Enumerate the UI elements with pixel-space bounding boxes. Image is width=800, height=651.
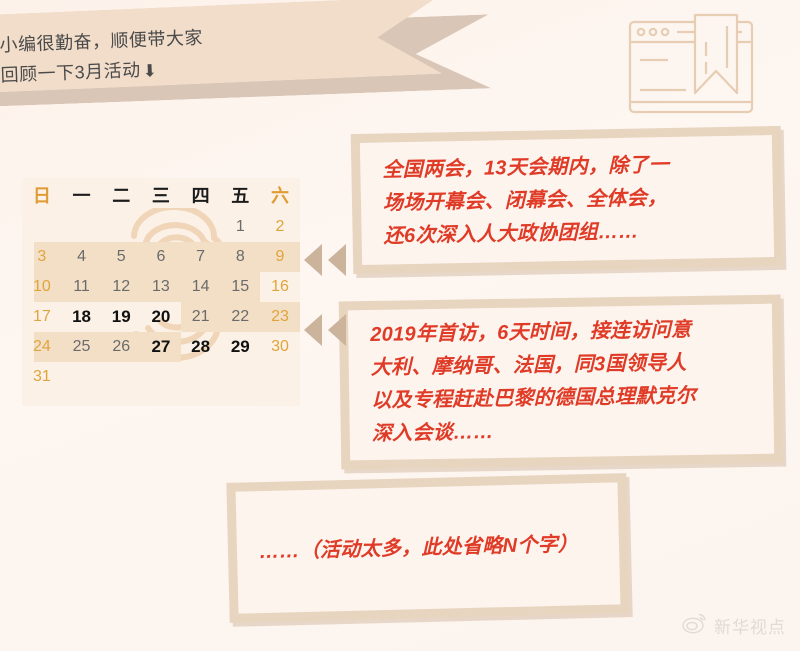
calendar-day-empty-thu [181,212,221,242]
calendar-day-empty-mon [62,212,102,242]
weekday-header-sun: 日 [22,178,62,212]
down-arrow-icon: ⬇ [142,56,158,87]
weekday-header-wed: 三 [141,178,181,212]
calendar-day-empty-thu [181,362,221,392]
calendar-week-row: 31 [22,362,300,392]
calendar-day-empty-wed [141,212,181,242]
callout-box-first-visit-2019: 2019年首访，6天时间，接连访问意大利、摩纳哥、法国，同3国领导人以及专程赶赴… [339,295,784,470]
calendar-day-25[interactable]: 25 [62,332,102,362]
calendar-day-28[interactable]: 28 [181,332,221,362]
calendar-day-empty-tue [101,362,141,392]
calendar-day-rows: 1234567891011121314151617181920212223242… [22,212,300,392]
callout-box-text: ……（活动太多，此处省略N个字） [236,482,621,613]
chevron-left-box2 [300,313,348,352]
callout-line-3: 还6次深入人大政协团组…… [383,213,752,253]
calendar-week-row: 12 [22,212,300,242]
callout-line-4: 深入会谈…… [372,412,752,451]
calendar-day-13[interactable]: 13 [141,272,181,302]
calendar-day-26[interactable]: 26 [101,332,141,362]
weekday-header-tue: 二 [101,178,141,212]
calendar-day-4[interactable]: 4 [62,242,102,272]
calendar-day-19[interactable]: 19 [101,302,141,332]
chevron-left-box1 [300,243,348,282]
calendar-day-31[interactable]: 31 [22,362,62,392]
calendar-week-row: 17181920212223 [22,302,300,332]
calendar-day-11[interactable]: 11 [62,272,102,302]
calendar-day-21[interactable]: 21 [181,302,221,332]
weekday-header-fri: 五 [220,178,260,212]
calendar-weekday-header-row: 日 一 二 三 四 五 六 [22,178,300,212]
calendar-day-empty-fri [220,362,260,392]
weibo-logo-icon [682,612,708,639]
calendar-week-row: 10111213141516 [22,272,300,302]
calendar-day-2[interactable]: 2 [260,212,300,242]
calendar-day-empty-mon [62,362,102,392]
calendar-day-20[interactable]: 20 [141,302,181,332]
calendar-day-empty-tue [101,212,141,242]
callout-box-omitted: ……（活动太多，此处省略N个字） [226,473,629,623]
calendar-day-8[interactable]: 8 [220,242,260,272]
calendar-day-5[interactable]: 5 [101,242,141,272]
calendar-day-empty-wed [141,362,181,392]
poster-canvas: 小编很勤奋，顺便带大家 回顾一下3月活动⬇ [0,0,800,651]
weekday-header-mon: 一 [62,178,102,212]
ribbon-text: 小编很勤奋，顺便带大家 回顾一下3月活动⬇ [0,18,331,92]
calendar-day-16[interactable]: 16 [260,272,300,302]
watermark-label: 新华视点 [714,613,786,638]
calendar-day-15[interactable]: 15 [220,272,260,302]
calendar-day-18[interactable]: 18 [62,302,102,332]
calendar-day-9[interactable]: 9 [260,242,300,272]
calendar-day-24[interactable]: 24 [22,332,62,362]
calendar-week-row: 24252627282930 [22,332,300,362]
calendar-day-10[interactable]: 10 [22,272,62,302]
calendar-day-17[interactable]: 17 [22,302,62,332]
calendar-day-6[interactable]: 6 [141,242,181,272]
header-ribbon-banner: 小编很勤奋，顺便带大家 回顾一下3月活动⬇ [0,0,520,124]
ribbon-line-2: 回顾一下3月活动 [0,60,141,85]
callout-line-1: ……（活动太多，此处省略N个字） [259,528,579,569]
calendar-day-empty-sat [260,362,300,392]
calendar-day-12[interactable]: 12 [101,272,141,302]
calendar-week-row: 3456789 [22,242,300,272]
weekday-header-thu: 四 [181,178,221,212]
callout-box-text: 2019年首访，6天时间，接连访问意大利、摩纳哥、法国，同3国领导人以及专程赶赴… [348,304,774,461]
calendar-day-empty-sun [22,212,62,242]
calendar-day-1[interactable]: 1 [220,212,260,242]
browser-bookmark-icon [620,10,770,120]
watermark: 新华视点 [682,612,786,639]
calendar-day-29[interactable]: 29 [220,332,260,362]
weekday-header-sat: 六 [260,178,300,212]
calendar-day-23[interactable]: 23 [260,302,300,332]
calendar-grid: 日 一 二 三 四 五 六 12345678910111213141516171… [22,178,300,406]
calendar-day-27[interactable]: 27 [141,332,181,362]
calendar-day-22[interactable]: 22 [220,302,260,332]
calendar-day-30[interactable]: 30 [260,332,300,362]
callout-box-text: 全国两会，13天会期内，除了一场场开幕会、闭幕会、全体会，还6次深入人大政协团组… [360,135,774,265]
callout-box-two-sessions: 全国两会，13天会期内，除了一场场开幕会、闭幕会、全体会，还6次深入人大政协团组… [351,126,784,274]
calendar-day-3[interactable]: 3 [22,242,62,272]
calendar-day-14[interactable]: 14 [181,272,221,302]
calendar-day-7[interactable]: 7 [181,242,221,272]
